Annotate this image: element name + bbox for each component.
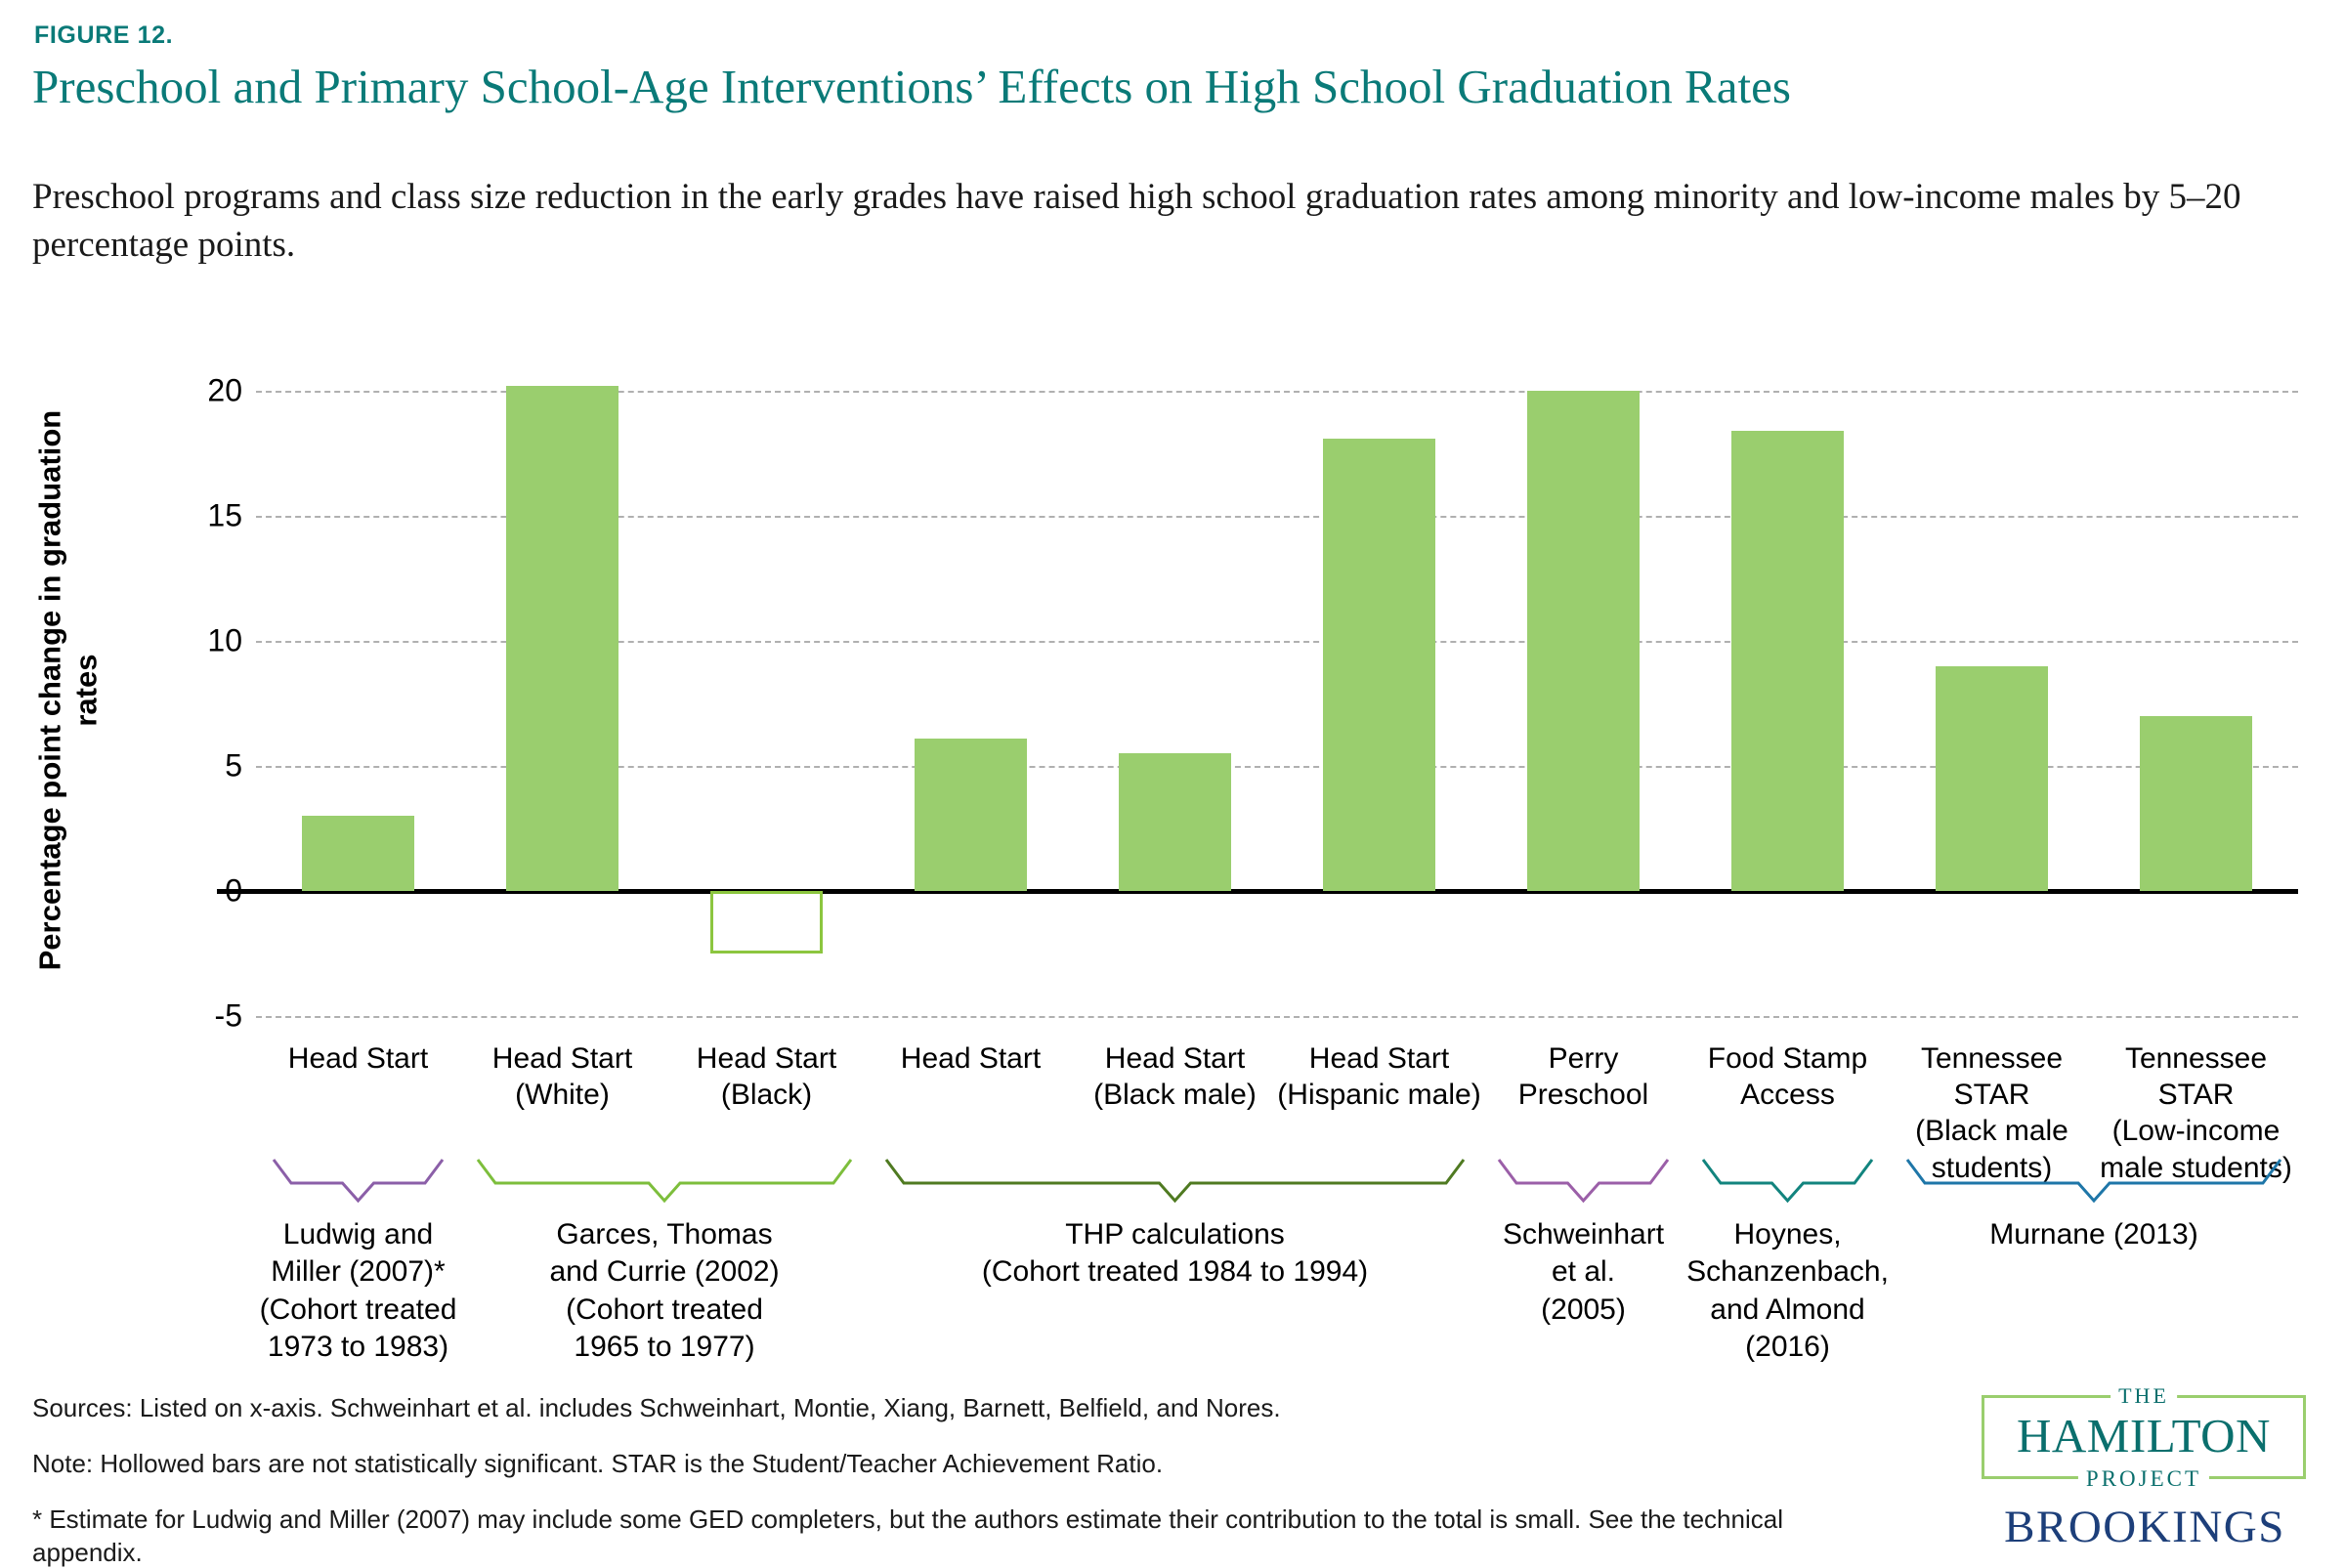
- page-title: Preschool and Primary School-Age Interve…: [32, 61, 2319, 114]
- x-axis-label: Head Start: [256, 1040, 460, 1077]
- y-tick-label: 10: [125, 623, 242, 659]
- bar: [1119, 753, 1231, 891]
- source-bracket: [1903, 1158, 2284, 1212]
- x-axis-label: Head Start(White): [460, 1040, 664, 1113]
- source-label-line: (Cohort treated: [460, 1292, 869, 1329]
- source-label-line: (2005): [1481, 1292, 1685, 1329]
- source-label-line: Murnane (2013): [1890, 1216, 2298, 1253]
- x-axis-label-line: (Low-income: [2094, 1113, 2298, 1149]
- bar: [1527, 391, 1640, 891]
- source-bracket: [882, 1158, 1468, 1212]
- x-axis-label-line: (Black): [664, 1077, 869, 1113]
- source-label-line: Schweinhart: [1481, 1216, 1685, 1253]
- y-tick-label: 5: [125, 748, 242, 784]
- source-brackets: [256, 1158, 2298, 1216]
- x-axis-label-line: Head Start: [1073, 1040, 1277, 1077]
- note-general: Note: Hollowed bars are not statisticall…: [32, 1447, 1801, 1481]
- logo-project-text: PROJECT: [2078, 1466, 2209, 1492]
- y-tick-label: 15: [125, 498, 242, 534]
- figure-subtitle: Preschool programs and class size reduct…: [32, 174, 2299, 270]
- x-axis-label-line: Preschool: [1481, 1077, 1685, 1113]
- x-axis-label-line: Head Start: [664, 1040, 869, 1077]
- source-bracket: [1495, 1158, 1672, 1212]
- x-axis-label-line: Head Start: [1277, 1040, 1481, 1077]
- source-label-line: Ludwig and Miller (2007)*: [256, 1216, 460, 1292]
- chart-container: Percentage point change in graduation ra…: [0, 361, 2345, 1045]
- note-sources: Sources: Listed on x-axis. Schweinhart e…: [32, 1391, 1801, 1425]
- logo-hamilton-text: HAMILTON: [1984, 1412, 2303, 1460]
- logo-the-text: THE: [2110, 1383, 2177, 1409]
- plot-area: -505101520: [256, 391, 2298, 1016]
- source-bracket: [1699, 1158, 1876, 1212]
- source-label-line: et al.: [1481, 1253, 1685, 1291]
- bar: [506, 386, 618, 891]
- y-axis-label: Percentage point change in graduation ra…: [32, 388, 104, 994]
- footnotes: Sources: Listed on x-axis. Schweinhart e…: [32, 1391, 1801, 1568]
- x-axis-label: PerryPreschool: [1481, 1040, 1685, 1113]
- source-label-line: Garces, Thomas: [460, 1216, 869, 1253]
- source-label: Schweinhartet al.(2005): [1481, 1216, 1685, 1329]
- x-axis-label-line: Tennessee STAR: [1890, 1040, 2094, 1113]
- source-label-line: 1973 to 1983): [256, 1329, 460, 1366]
- bar: [302, 816, 414, 891]
- x-axis-label: Head Start(Hispanic male): [1277, 1040, 1481, 1113]
- x-axis-label-line: (Hispanic male): [1277, 1077, 1481, 1113]
- hamilton-project-logo: THE HAMILTON PROJECT BROOKINGS: [1964, 1395, 2325, 1553]
- source-label-line: (Cohort treated 1984 to 1994): [869, 1253, 1481, 1291]
- x-axis-label-line: Food Stamp: [1685, 1040, 1890, 1077]
- x-axis-label-line: Head Start: [460, 1040, 664, 1077]
- x-axis-labels: Head StartHead Start(White)Head Start(Bl…: [256, 1040, 2298, 1167]
- bar: [1731, 431, 1844, 891]
- source-label-line: and Currie (2002): [460, 1253, 869, 1291]
- bar: [1936, 666, 2048, 891]
- x-axis-label: Food StampAccess: [1685, 1040, 1890, 1113]
- source-label-line: 1965 to 1977): [460, 1329, 869, 1366]
- bar: [915, 739, 1027, 891]
- note-asterisk: * Estimate for Ludwig and Miller (2007) …: [32, 1503, 1801, 1568]
- source-labels: Ludwig and Miller (2007)*(Cohort treated…: [256, 1216, 2298, 1373]
- x-axis-label-line: (Black male): [1073, 1077, 1277, 1113]
- source-bracket: [474, 1158, 855, 1212]
- gridline--5: [256, 1016, 2298, 1018]
- source-bracket: [270, 1158, 447, 1212]
- figure-number: FIGURE 12.: [34, 21, 173, 50]
- source-label: THP calculations(Cohort treated 1984 to …: [869, 1216, 1481, 1292]
- source-label: Murnane (2013): [1890, 1216, 2298, 1253]
- x-axis-label-line: Head Start: [256, 1040, 460, 1077]
- source-label-line: THP calculations: [869, 1216, 1481, 1253]
- y-tick-label: 20: [125, 373, 242, 409]
- source-label-line: (Cohort treated: [256, 1292, 460, 1329]
- x-axis-label-line: Perry: [1481, 1040, 1685, 1077]
- bar: [710, 891, 823, 954]
- x-axis-label-line: Access: [1685, 1077, 1890, 1113]
- x-axis-label-line: Head Start: [869, 1040, 1073, 1077]
- y-tick-label: -5: [125, 998, 242, 1035]
- x-axis-label-line: Tennessee STAR: [2094, 1040, 2298, 1113]
- source-label: Ludwig and Miller (2007)*(Cohort treated…: [256, 1216, 460, 1367]
- x-axis-label: Head Start(Black): [664, 1040, 869, 1113]
- source-label-line: Schanzenbach,: [1685, 1253, 1890, 1291]
- logo-frame: THE HAMILTON PROJECT: [1982, 1395, 2306, 1479]
- bar: [1323, 439, 1435, 891]
- source-label-line: and Almond (2016): [1685, 1292, 1890, 1367]
- brookings-wordmark: BROOKINGS: [1964, 1501, 2325, 1553]
- x-axis-label-line: (Black male: [1890, 1113, 2094, 1149]
- x-axis-label: Head Start(Black male): [1073, 1040, 1277, 1113]
- x-axis-label: Head Start: [869, 1040, 1073, 1077]
- source-label: Hoynes,Schanzenbach,and Almond (2016): [1685, 1216, 1890, 1367]
- figure-page: FIGURE 12. Preschool and Primary School-…: [0, 0, 2345, 1568]
- source-label: Garces, Thomasand Currie (2002)(Cohort t…: [460, 1216, 869, 1367]
- source-label-line: Hoynes,: [1685, 1216, 1890, 1253]
- bar: [2140, 716, 2252, 891]
- x-axis-label-line: (White): [460, 1077, 664, 1113]
